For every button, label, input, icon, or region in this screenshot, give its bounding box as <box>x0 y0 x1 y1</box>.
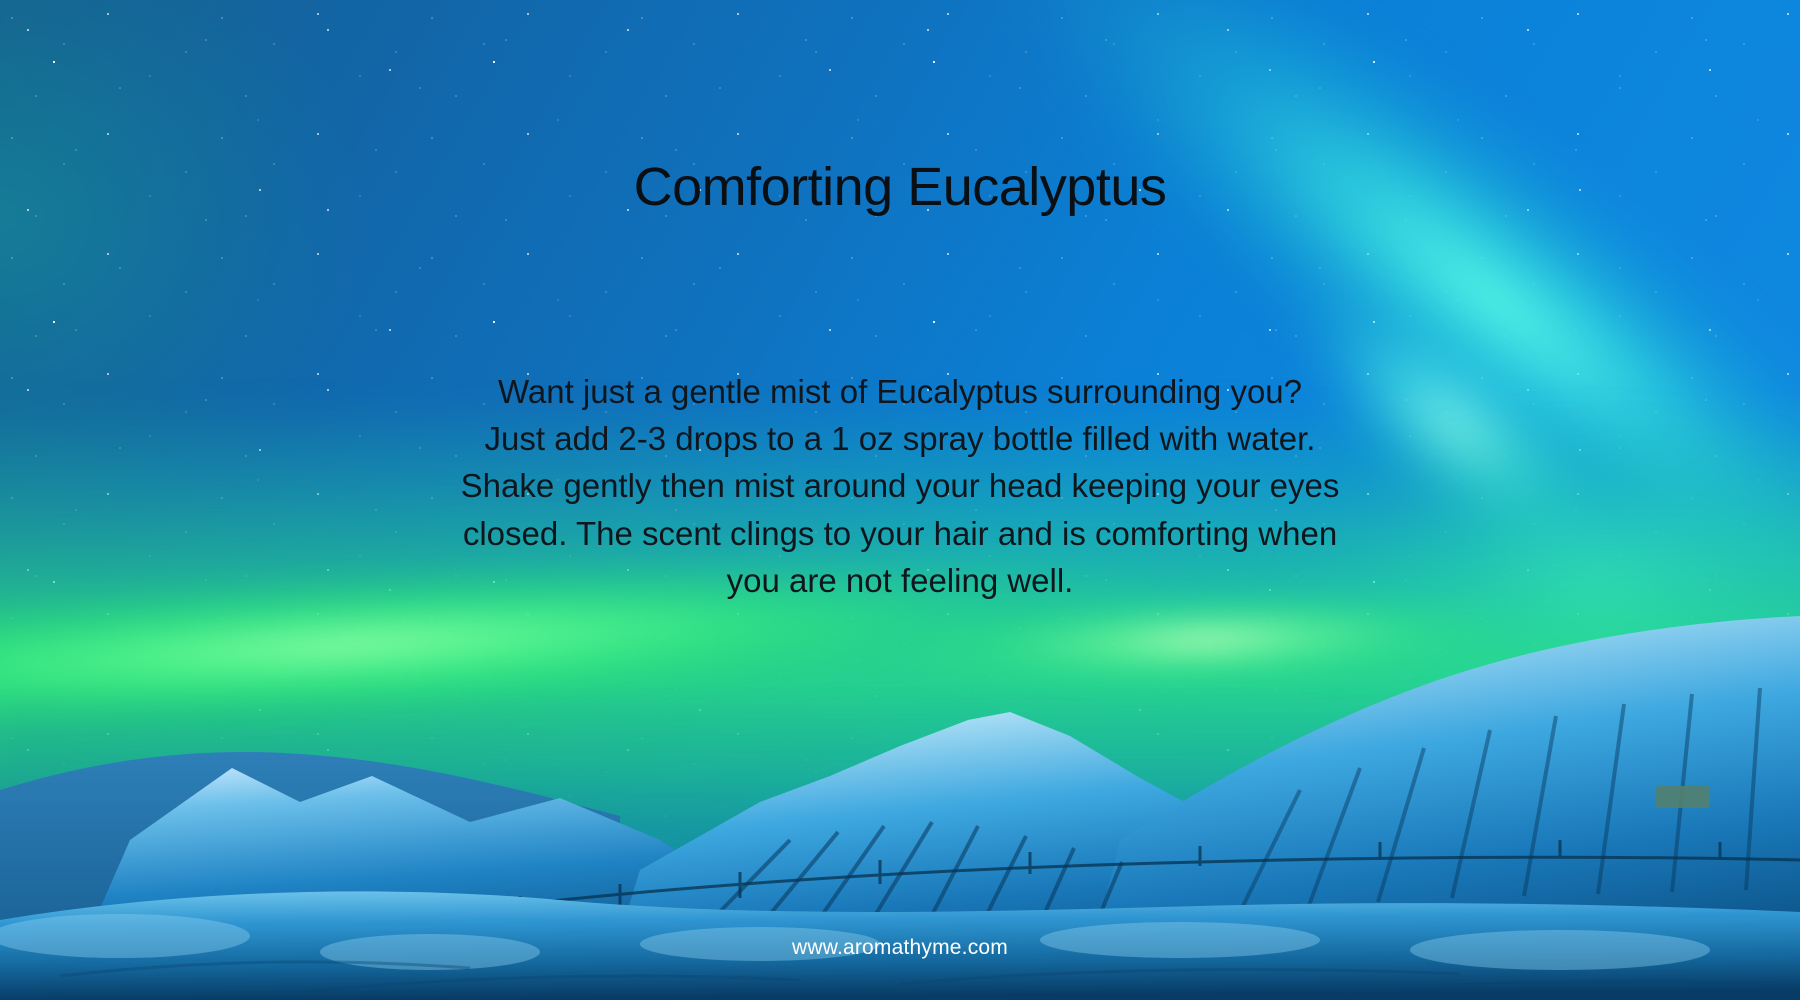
body-line-2: Just add 2-3 drops to a 1 oz spray bottl… <box>390 415 1410 462</box>
body-copy: Want just a gentle mist of Eucalyptus su… <box>390 368 1410 604</box>
body-line-5: you are not feeling well. <box>390 557 1410 604</box>
slide-canvas: Comforting Eucalyptus Want just a gentle… <box>0 0 1800 1000</box>
body-line-4: closed. The scent clings to your hair an… <box>390 510 1410 557</box>
page-title: Comforting Eucalyptus <box>0 158 1800 217</box>
body-line-3: Shake gently then mist around your head … <box>390 462 1410 509</box>
slide-content: Comforting Eucalyptus Want just a gentle… <box>0 0 1800 1000</box>
website-url[interactable]: www.aromathyme.com <box>0 936 1800 960</box>
body-line-1: Want just a gentle mist of Eucalyptus su… <box>390 368 1410 415</box>
